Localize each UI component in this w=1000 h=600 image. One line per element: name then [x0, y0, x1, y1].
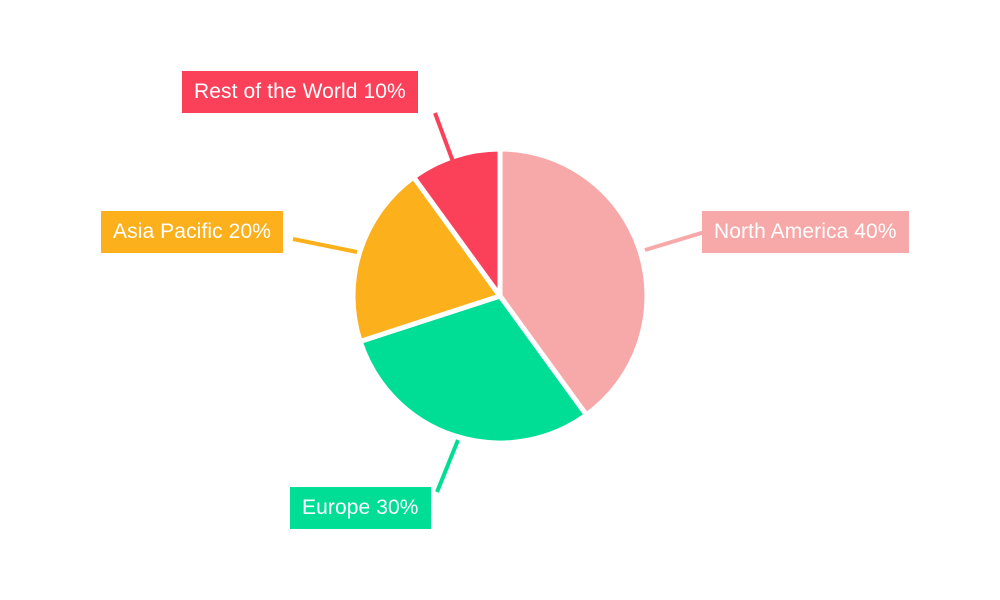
leader-line-asia-pacific [293, 239, 357, 252]
pie-chart: North America 40% Europe 30% Asia Pacifi… [0, 0, 1000, 600]
pie-label-rest-of-world-text: Rest of the World 10% [194, 71, 406, 113]
pie-label-north-america[interactable]: North America 40% [702, 211, 909, 253]
pie-label-europe-text: Europe 30% [302, 487, 419, 529]
leader-line-europe [437, 440, 458, 492]
pie-label-asia-pacific-text: Asia Pacific 20% [113, 211, 271, 253]
pie-slices [353, 149, 647, 443]
pie-label-rest-of-world[interactable]: Rest of the World 10% [182, 71, 418, 113]
pie-label-asia-pacific[interactable]: Asia Pacific 20% [101, 211, 283, 253]
pie-label-europe[interactable]: Europe 30% [290, 487, 431, 529]
leader-line-north-america [645, 231, 708, 250]
pie-label-north-america-text: North America 40% [714, 211, 897, 253]
pie-chart-canvas [0, 0, 1000, 600]
